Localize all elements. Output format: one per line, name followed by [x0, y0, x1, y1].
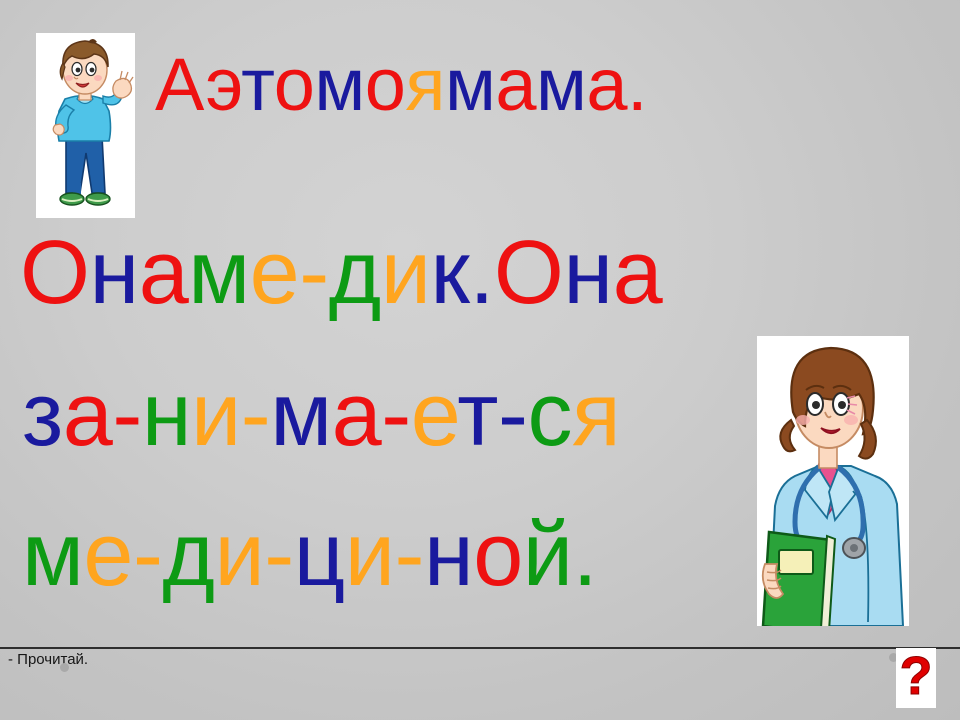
footer-divider — [0, 647, 960, 649]
letter-green: н — [142, 365, 191, 465]
letter-blue: т — [241, 43, 274, 126]
letter-red: . — [627, 43, 647, 126]
letter-blue: м — [314, 43, 364, 126]
letter-blue: н — [424, 505, 473, 605]
slide-canvas: Аэтомоямама. Онаме-дик.Она за-ни-ма-ет-с… — [0, 0, 960, 720]
letter-green: м — [188, 223, 249, 323]
letter-red: А — [155, 43, 205, 126]
letter-orange: и — [381, 223, 431, 323]
letter-green: с — [528, 365, 573, 465]
letter-orange: - — [395, 505, 424, 605]
letter-red: а — [139, 223, 189, 323]
letter-blue: н — [563, 223, 612, 323]
letter-blue: м — [445, 43, 495, 126]
sentence-line-2: Онаме-дик.Она — [20, 222, 662, 325]
letter-blue: к — [431, 223, 470, 323]
letter-orange: е — [83, 505, 133, 605]
letter-blue: н — [90, 223, 139, 323]
help-question-mark-button[interactable]: ? — [896, 648, 936, 708]
letter-orange: - — [299, 223, 328, 323]
woman-doctor-illustration — [757, 336, 909, 626]
letter-red: О — [20, 223, 90, 323]
letter-red: о — [365, 43, 406, 126]
letter-orange: я — [572, 365, 620, 465]
letter-orange: е — [250, 223, 300, 323]
sentence-line-1: Аэтомоямама. — [155, 42, 647, 127]
letter-red: а — [63, 365, 113, 465]
letter-red: а — [495, 43, 536, 126]
letter-green: д — [329, 223, 381, 323]
letter-orange: я — [405, 43, 445, 126]
letter-green: м — [22, 505, 83, 605]
letter-orange: е — [411, 365, 458, 465]
question-mark-icon: ? — [900, 649, 933, 703]
letter-blue: т — [457, 365, 498, 465]
decorative-dot-left — [60, 663, 69, 672]
letter-orange: и — [214, 505, 264, 605]
boy-waving-illustration — [36, 33, 135, 218]
letter-blue: - — [498, 365, 527, 465]
letter-green: й — [523, 505, 573, 605]
letter-red: - — [381, 365, 410, 465]
letter-blue: . — [469, 223, 494, 323]
letter-blue: м — [536, 43, 586, 126]
sentence-line-3: за-ни-ма-ет-ся — [22, 364, 620, 467]
letter-green: д — [162, 505, 214, 605]
letter-blue: ц — [294, 505, 345, 605]
instruction-text: - Прочитай. — [8, 651, 88, 668]
letter-red: э — [205, 43, 241, 126]
letter-red: а — [586, 43, 627, 126]
letter-red: - — [112, 365, 141, 465]
letter-red: о — [473, 505, 523, 605]
letter-blue: з — [22, 365, 63, 465]
letter-orange: - — [241, 365, 270, 465]
letter-blue: м — [270, 365, 331, 465]
letter-orange: - — [264, 505, 293, 605]
letter-green: . — [573, 505, 598, 605]
letter-red: о — [274, 43, 315, 126]
letter-orange: - — [133, 505, 162, 605]
letter-orange: и — [191, 365, 241, 465]
letter-red: а — [332, 365, 382, 465]
letter-red: О — [494, 223, 564, 323]
sentence-line-4: ме-ди-ци-ной. — [22, 504, 597, 607]
letter-orange: и — [345, 505, 395, 605]
letter-red: а — [613, 223, 663, 323]
